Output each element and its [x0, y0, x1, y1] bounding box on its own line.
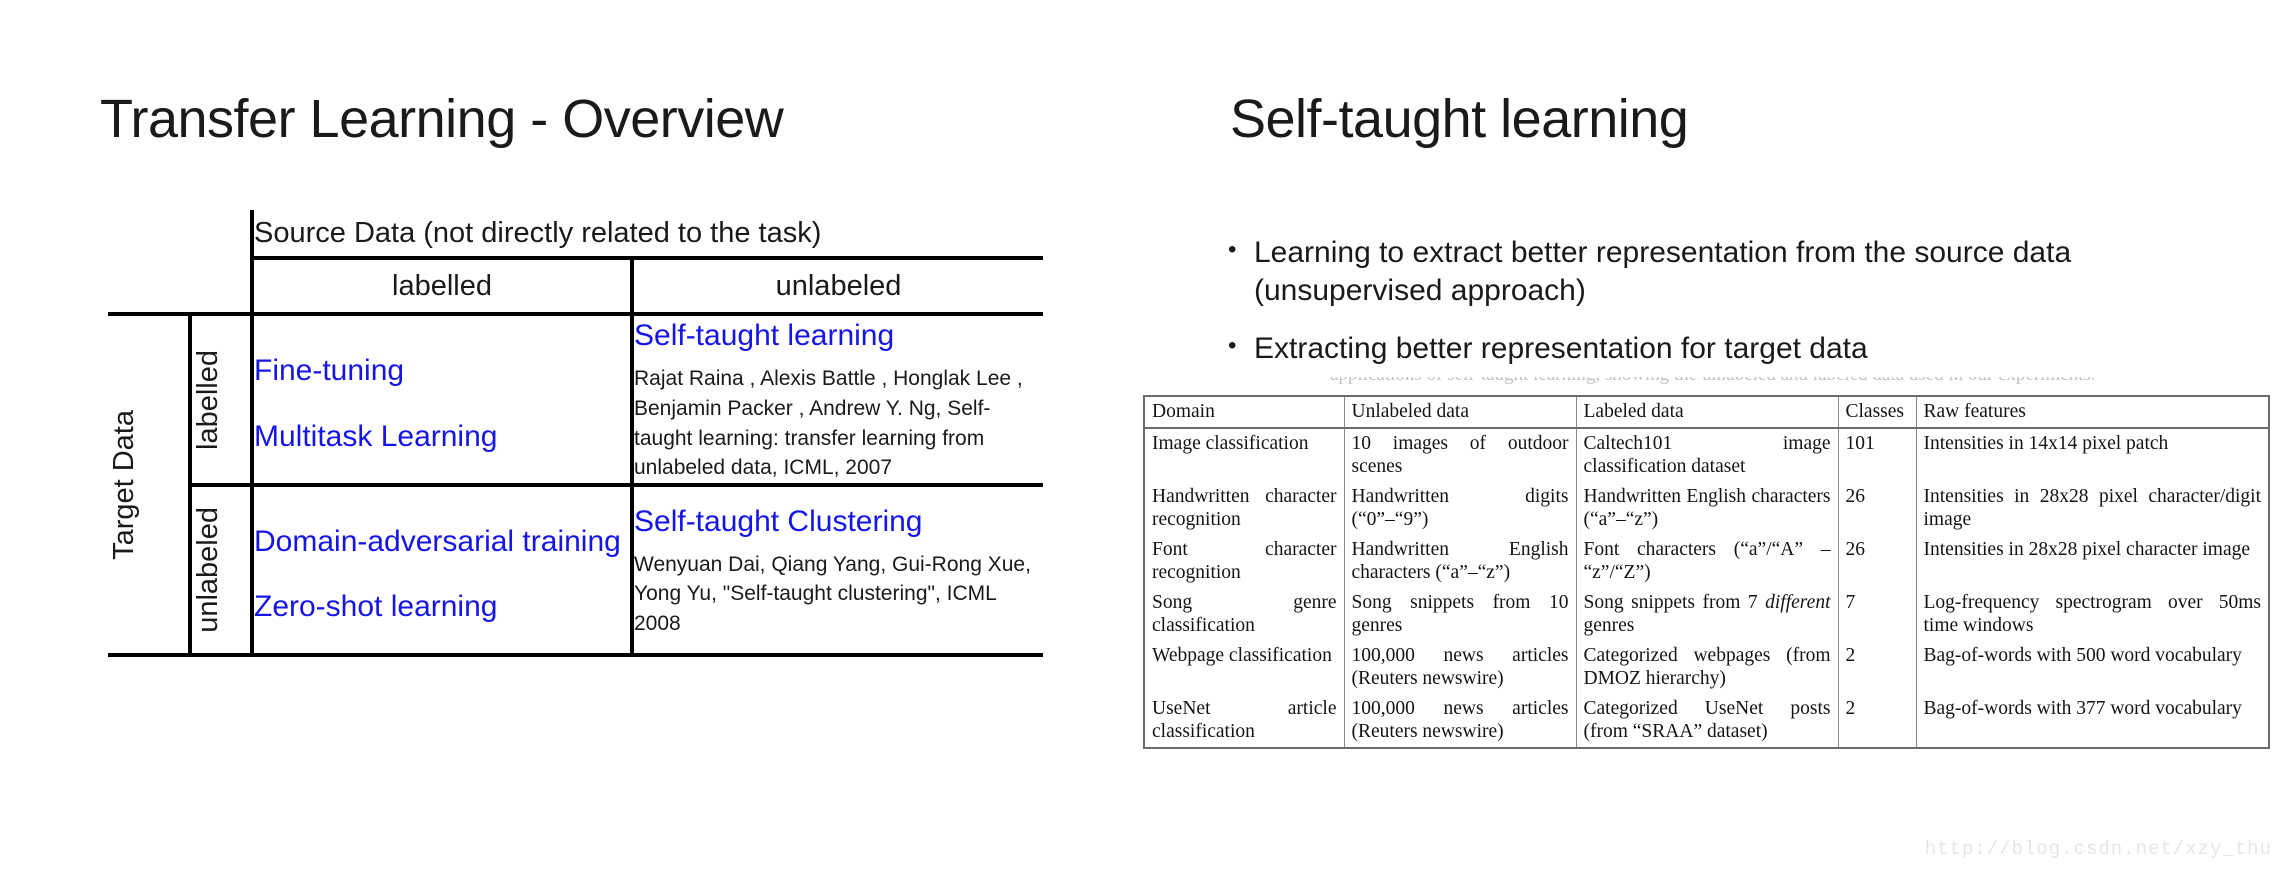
matrix-row-target-unlabeled: unlabeled Domain-adversarial training Ze…: [108, 485, 1043, 655]
method-multitask-learning: Multitask Learning: [254, 419, 630, 454]
cell-domain: Handwritten character recognition: [1144, 482, 1344, 535]
citation-self-taught-learning: Rajat Raina , Alexis Battle , Honglak Le…: [634, 364, 1043, 483]
citation-self-taught-clustering: Wenyuan Dai, Qiang Yang, Gui-Rong Xue, Y…: [634, 550, 1043, 639]
cell-classes: 7: [1838, 588, 1916, 641]
cell-labeled-data: Font characters (“a”/“A” – “z”/“Z”): [1576, 535, 1838, 588]
column-header-domain: Domain: [1144, 396, 1344, 428]
transfer-learning-matrix: Source Data (not directly related to the…: [108, 210, 1043, 657]
cell-classes: 26: [1838, 535, 1916, 588]
cell-labeled-data: Song snippets from 7 different genres: [1576, 588, 1838, 641]
matrix-corner-spacer: [108, 210, 190, 258]
bullet-dot-icon: •: [1228, 330, 1254, 362]
cell-unlabeled-data: Song snippets from 10 genres: [1344, 588, 1576, 641]
bullet-dot-icon: •: [1228, 234, 1254, 266]
cell-classes: 101: [1838, 428, 1916, 482]
cell-labeled-post: genres: [1584, 615, 1635, 636]
table-header-row: Domain Unlabeled data Labeled data Class…: [1144, 396, 2269, 428]
cell-domain: Webpage classification: [1144, 641, 1344, 694]
cell-labeled-data: Categorized webpages (from DMOZ hierarch…: [1576, 641, 1838, 694]
cell-labeled-data: Categorized UseNet posts (from “SRAA” da…: [1576, 694, 1838, 748]
cell-unlabeled-data: 100,000 news articles (Reuters newswire): [1344, 694, 1576, 748]
self-taught-applications-table: Domain Unlabeled data Labeled data Class…: [1143, 395, 2268, 749]
page-title-transfer-learning: Transfer Learning - Overview: [100, 88, 783, 150]
cell-raw-features: Intensities in 14x14 pixel patch: [1916, 428, 2269, 482]
matrix-col-header-unlabeled: unlabeled: [632, 258, 1043, 314]
cell-domain: Song genre classification: [1144, 588, 1344, 641]
matrix-row-header-unlabeled-text: unlabeled: [192, 507, 225, 633]
method-self-taught-clustering: Self-taught Clustering: [634, 504, 1043, 540]
cell-classes: 2: [1838, 641, 1916, 694]
matrix-target-data-axis-label: Target Data: [108, 314, 190, 655]
method-domain-adversarial-training: Domain-adversarial training: [254, 524, 630, 559]
cell-labeled-data: Caltech101 image classification dataset: [1576, 428, 1838, 482]
table-row: Font character recognition Handwritten E…: [1144, 535, 2269, 588]
table-row: Song genre classification Song snippets …: [1144, 588, 2269, 641]
cell-unlabeled-data: Handwritten digits (“0”–“9”): [1344, 482, 1576, 535]
self-taught-learning-panel: Self-taught learning • Learning to extra…: [1140, 0, 2280, 872]
page-title-self-taught-learning: Self-taught learning: [1230, 88, 1688, 150]
cell-classes: 26: [1838, 482, 1916, 535]
matrix-source-header-row: Source Data (not directly related to the…: [108, 210, 1043, 258]
table-row: Image classification 10 images of outdoo…: [1144, 428, 2269, 482]
table-caption-clipped: applications of self-taught learning, sh…: [1330, 377, 2190, 390]
matrix-row-target-labelled: Target Data labelled Fine-tuning Multita…: [108, 314, 1043, 485]
matrix-cell-labelled-labelled: Fine-tuning Multitask Learning: [252, 314, 632, 485]
matrix-column-header-row: labelled unlabeled: [108, 258, 1043, 314]
cell-raw-features: Bag-of-words with 500 word vocabulary: [1916, 641, 2269, 694]
matrix-cell-unlabeled-labelled: Domain-adversarial training Zero-shot le…: [252, 485, 632, 655]
bullet-list: • Learning to extract better representat…: [1228, 234, 2208, 388]
cell-classes: 2: [1838, 694, 1916, 748]
bullet-text: Learning to extract better representatio…: [1254, 234, 2208, 310]
matrix-row-header-labelled-text: labelled: [192, 350, 225, 450]
cell-raw-features: Bag-of-words with 377 word vocabulary: [1916, 694, 2269, 748]
cell-unlabeled-data: 10 images of outdoor scenes: [1344, 428, 1576, 482]
cell-labeled-italic: different: [1765, 592, 1830, 613]
matrix-target-data-axis-text: Target Data: [108, 410, 141, 560]
method-fine-tuning: Fine-tuning: [254, 353, 630, 388]
watermark-url: http://blog.csdn.net/xzy_thu: [1925, 838, 2272, 860]
matrix-row-header-labelled: labelled: [190, 314, 252, 485]
cell-domain: Image classification: [1144, 428, 1344, 482]
column-header-unlabeled-data: Unlabeled data: [1344, 396, 1576, 428]
cell-raw-features: Log-frequency spectrogram over 50ms time…: [1916, 588, 2269, 641]
column-header-raw-features: Raw features: [1916, 396, 2269, 428]
matrix-source-data-header: Source Data (not directly related to the…: [252, 210, 1043, 258]
matrix-corner-spacer-4: [190, 258, 252, 314]
cell-domain: UseNet article classification: [1144, 694, 1344, 748]
method-self-taught-learning: Self-taught learning: [634, 318, 1043, 354]
matrix-col-header-labelled: labelled: [252, 258, 632, 314]
transfer-learning-panel: Transfer Learning - Overview Source Data…: [0, 0, 1140, 872]
cell-raw-features: Intensities in 28x28 pixel character/dig…: [1916, 482, 2269, 535]
matrix-cell-unlabeled-unlabeled: Self-taught Clustering Wenyuan Dai, Qian…: [632, 485, 1043, 655]
column-header-classes: Classes: [1838, 396, 1916, 428]
table-caption-text: applications of self-taught learning, sh…: [1330, 377, 2190, 386]
matrix-row-header-unlabeled: unlabeled: [190, 485, 252, 655]
column-header-labeled-data: Labeled data: [1576, 396, 1838, 428]
cell-domain: Font character recognition: [1144, 535, 1344, 588]
bullet-text: Extracting better representation for tar…: [1254, 330, 2208, 368]
table-row: Handwritten character recognition Handwr…: [1144, 482, 2269, 535]
matrix-corner-spacer-2: [190, 210, 252, 258]
method-zero-shot-learning: Zero-shot learning: [254, 589, 630, 624]
cell-unlabeled-data: Handwritten English characters (“a”–“z”): [1344, 535, 1576, 588]
matrix-corner-spacer-3: [108, 258, 190, 314]
list-item: • Learning to extract better representat…: [1228, 234, 2208, 310]
cell-labeled-data: Handwritten English characters (“a”–“z”): [1576, 482, 1838, 535]
table-row: UseNet article classification 100,000 ne…: [1144, 694, 2269, 748]
matrix-cell-labelled-unlabeled: Self-taught learning Rajat Raina , Alexi…: [632, 314, 1043, 485]
list-item: • Extracting better representation for t…: [1228, 330, 2208, 368]
table-row: Webpage classification 100,000 news arti…: [1144, 641, 2269, 694]
cell-labeled-pre: Song snippets from 7: [1584, 592, 1766, 613]
cell-raw-features: Intensities in 28x28 pixel character ima…: [1916, 535, 2269, 588]
cell-unlabeled-data: 100,000 news articles (Reuters newswire): [1344, 641, 1576, 694]
